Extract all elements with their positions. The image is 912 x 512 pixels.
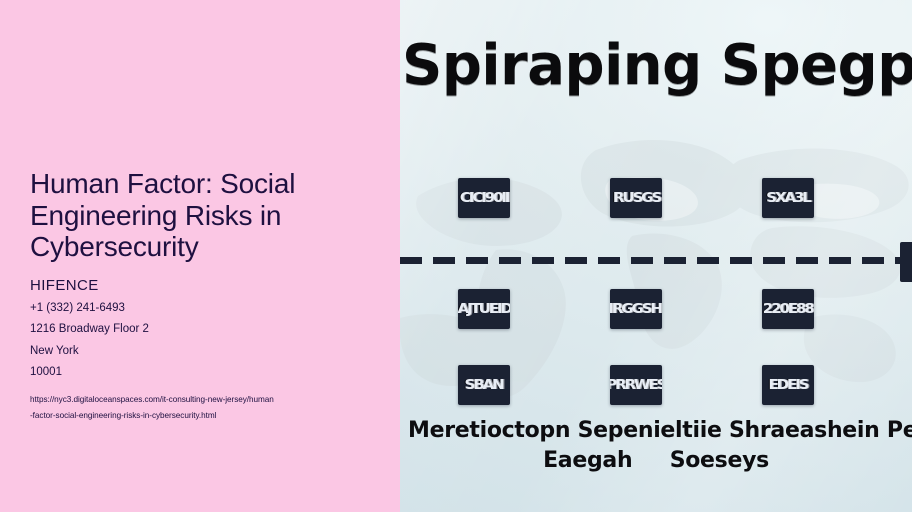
- chip-glyph: EDEIS: [769, 378, 808, 393]
- chip-item: AJTUEID: [458, 289, 510, 329]
- postal-code: 10001: [30, 365, 380, 379]
- chip-item: RUSGS: [610, 178, 662, 218]
- url-line-1: https://nyc3.digitaloceanspaces.com/it-c…: [30, 392, 380, 408]
- city-name: New York: [30, 344, 380, 358]
- chip-item: CICI90II: [458, 178, 510, 218]
- caption-line-1: Meretioctopn Sepenieltiie Shraeashein Pe…: [408, 416, 912, 446]
- phone-number: +1 (332) 241-6493: [30, 301, 380, 315]
- dashed-divider: [400, 257, 912, 264]
- right-illustration-panel: Spiraping Spegpty CICI90II RUSGS SXA3L A…: [400, 0, 912, 512]
- url-line-2: -factor-social-engineering-risks-in-cybe…: [30, 408, 380, 424]
- poster-caption: Meretioctopn Sepenieltiie Shraeashein Pe…: [400, 416, 912, 475]
- poster-canvas: Human Factor: Social Engineering Risks i…: [0, 0, 912, 512]
- chip-glyph: RUSGS: [612, 191, 659, 206]
- chip-glyph: AJTUEID: [458, 302, 510, 317]
- street-address: 1216 Broadway Floor 2: [30, 322, 380, 336]
- chip-glyph: IRGGSHI: [610, 302, 662, 317]
- chip-item: PRRWES: [610, 365, 662, 405]
- chip-item: SXA3L: [762, 178, 814, 218]
- left-content-block: Human Factor: Social Engineering Risks i…: [30, 168, 380, 424]
- chip-item: EDEIS: [762, 365, 814, 405]
- edge-chip: [900, 242, 912, 282]
- chip-glyph: PRRWES: [610, 378, 662, 393]
- page-title: Human Factor: Social Engineering Risks i…: [30, 168, 360, 263]
- brand-name: HIFENCE: [30, 277, 380, 294]
- chip-glyph: CICI90II: [460, 191, 508, 206]
- chip-glyph: 220E88: [763, 302, 813, 317]
- chip-item: SBAN: [458, 365, 510, 405]
- chip-item: 220E88: [762, 289, 814, 329]
- caption-line-2: Eaegah Soeseys: [400, 446, 912, 476]
- source-url[interactable]: https://nyc3.digitaloceanspaces.com/it-c…: [30, 392, 380, 423]
- chip-item: IRGGSHI: [610, 289, 662, 329]
- left-info-panel: Human Factor: Social Engineering Risks i…: [0, 0, 400, 512]
- chip-glyph: SXA3L: [766, 191, 809, 206]
- chip-glyph: SBAN: [465, 378, 503, 393]
